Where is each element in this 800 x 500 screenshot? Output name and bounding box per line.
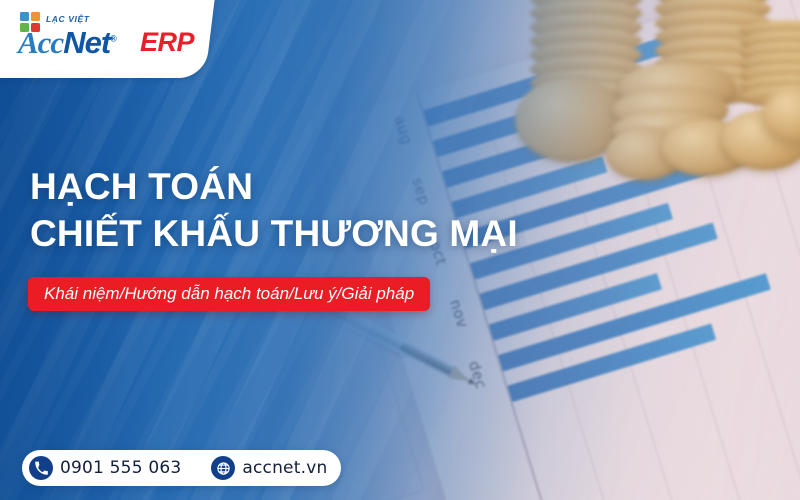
marketing-banner: aug sep oct nov dec xyxy=(0,0,800,500)
erp-wordmark: ERP xyxy=(140,29,194,56)
headline-line-2: CHIẾT KHẤU THƯƠNG MẠI xyxy=(30,210,518,257)
globe-icon xyxy=(211,456,235,480)
headline-line-1: HẠCH TOÁN xyxy=(30,163,518,210)
accnet-wordmark: AccNet® xyxy=(18,27,116,58)
website-url: accnet.vn xyxy=(242,458,327,478)
subtitle-badge: Khái niệm/Hướng dẫn hạch toán/Lưu ý/Giải… xyxy=(28,277,430,311)
contact-bar: 0901 555 063 accnet.vn xyxy=(22,450,341,486)
registered-mark: ® xyxy=(110,34,116,44)
accnet-acc: Acc xyxy=(18,25,63,60)
accnet-net: Net xyxy=(63,25,110,60)
website-contact[interactable]: accnet.vn xyxy=(211,456,327,480)
square-orange xyxy=(31,12,40,21)
phone-icon xyxy=(29,456,53,480)
page-title: HẠCH TOÁN CHIẾT KHẤU THƯƠNG MẠI xyxy=(30,163,518,258)
accnet-erp-logo[interactable]: LẠC VIỆT AccNet® ERP xyxy=(18,12,193,64)
phone-contact[interactable]: 0901 555 063 xyxy=(29,456,181,480)
square-blue xyxy=(20,12,29,21)
phone-number: 0901 555 063 xyxy=(60,458,181,478)
lacviet-tagline: LẠC VIỆT xyxy=(46,14,90,24)
